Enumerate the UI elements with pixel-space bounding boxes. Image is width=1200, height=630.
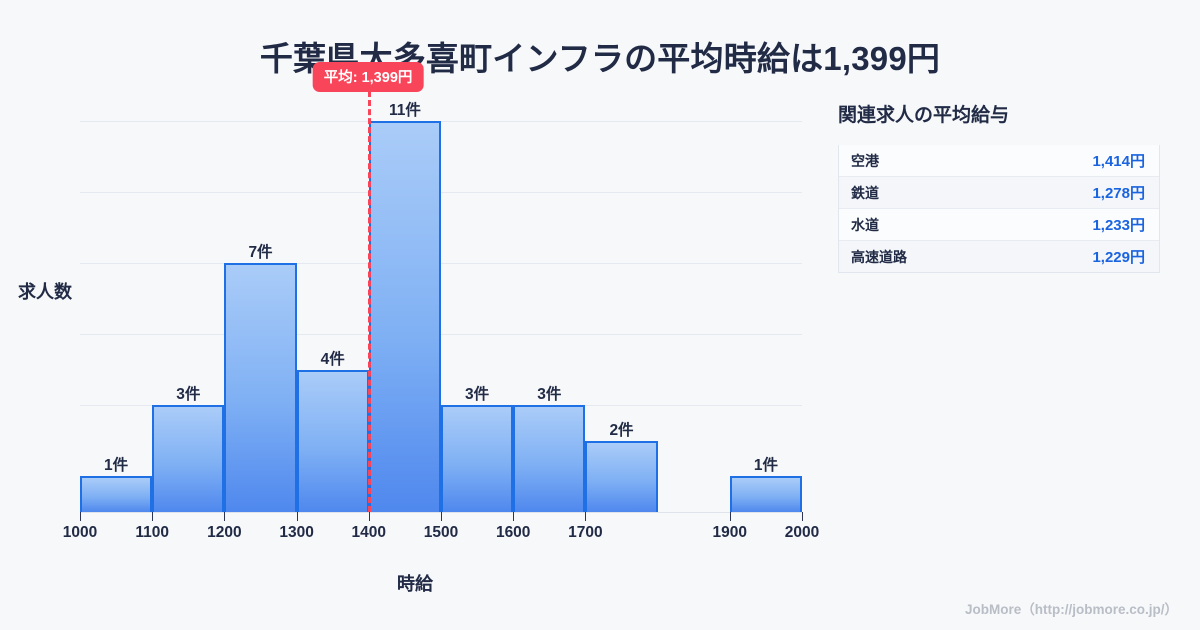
gridline — [80, 263, 802, 264]
x-axis-tick-label: 1600 — [496, 524, 530, 542]
table-row: 鉄道1,278円 — [839, 177, 1159, 209]
x-axis-tick-label: 1700 — [568, 524, 602, 542]
panel-title: 関連求人の平均給与 — [838, 100, 1168, 127]
x-axis-tick-label: 1200 — [207, 524, 241, 542]
average-line — [368, 82, 371, 512]
x-axis-tick-label: 1300 — [279, 524, 313, 542]
gridline — [80, 121, 802, 122]
bar-value-label: 11件 — [389, 98, 421, 120]
x-axis-tick — [297, 512, 298, 521]
bar-value-label: 1件 — [104, 453, 128, 475]
histogram-chart: 求人数 時給 1件3件7件4件11件3件3件2件1件10001100120013… — [0, 0, 830, 630]
histogram-bar — [224, 263, 296, 512]
bar-value-label: 3件 — [537, 382, 561, 404]
x-axis-tick-label: 1900 — [713, 524, 747, 542]
x-axis-tick-label: 1500 — [424, 524, 458, 542]
salary-value: 1,278円 — [1092, 182, 1145, 203]
gridline — [80, 334, 802, 335]
table-row: 空港1,414円 — [839, 145, 1159, 177]
salary-category-label: 高速道路 — [851, 247, 907, 267]
histogram-bar — [441, 405, 513, 512]
salary-value: 1,229円 — [1092, 246, 1145, 267]
x-axis-tick — [585, 512, 586, 521]
x-axis-tick — [224, 512, 225, 521]
bar-value-label: 3件 — [176, 382, 200, 404]
bar-value-label: 4件 — [321, 347, 345, 369]
histogram-bar — [585, 441, 657, 512]
salary-category-label: 水道 — [851, 215, 879, 235]
table-row: 高速道路1,229円 — [839, 241, 1159, 273]
chart-page: 千葉県大多喜町インフラの平均時給は1,399円 求人数 時給 1件3件7件4件1… — [0, 0, 1200, 630]
bar-value-label: 7件 — [248, 240, 272, 262]
histogram-bar — [513, 405, 585, 512]
gridline — [80, 192, 802, 193]
x-axis-tick — [441, 512, 442, 521]
salary-category-label: 鉄道 — [851, 183, 879, 203]
x-axis-tick — [730, 512, 731, 521]
x-axis-tick-label: 1100 — [135, 524, 169, 542]
x-axis-tick — [513, 512, 514, 521]
x-axis-tick-label: 1000 — [63, 524, 97, 542]
average-badge: 平均: 1,399円 — [313, 62, 424, 92]
histogram-bar — [730, 476, 802, 512]
salary-table: 空港1,414円鉄道1,278円水道1,233円高速道路1,229円 — [838, 145, 1160, 273]
x-axis-tick — [802, 512, 803, 521]
histogram-bar — [297, 370, 369, 512]
x-axis-tick — [80, 512, 81, 521]
footer-attribution: JobMore（http://jobmore.co.jp/） — [965, 598, 1178, 618]
x-axis-label: 時給 — [0, 570, 830, 596]
salary-value: 1,414円 — [1092, 150, 1145, 171]
bar-value-label: 1件 — [754, 453, 778, 475]
histogram-bar — [152, 405, 224, 512]
histogram-bar — [369, 121, 441, 512]
x-axis-tick — [152, 512, 153, 521]
related-salary-panel: 関連求人の平均給与 空港1,414円鉄道1,278円水道1,233円高速道路1,… — [838, 100, 1168, 273]
histogram-bar — [80, 476, 152, 512]
plot-area: 1件3件7件4件11件3件3件2件1件100011001200130014001… — [80, 100, 802, 512]
x-axis-tick-label: 2000 — [785, 524, 819, 542]
table-row: 水道1,233円 — [839, 209, 1159, 241]
x-axis-tick — [369, 512, 370, 521]
bar-value-label: 3件 — [465, 382, 489, 404]
bar-value-label: 2件 — [609, 418, 633, 440]
x-axis-tick-label: 1400 — [352, 524, 386, 542]
y-axis-label: 求人数 — [18, 278, 72, 304]
salary-category-label: 空港 — [851, 151, 879, 171]
salary-value: 1,233円 — [1092, 214, 1145, 235]
